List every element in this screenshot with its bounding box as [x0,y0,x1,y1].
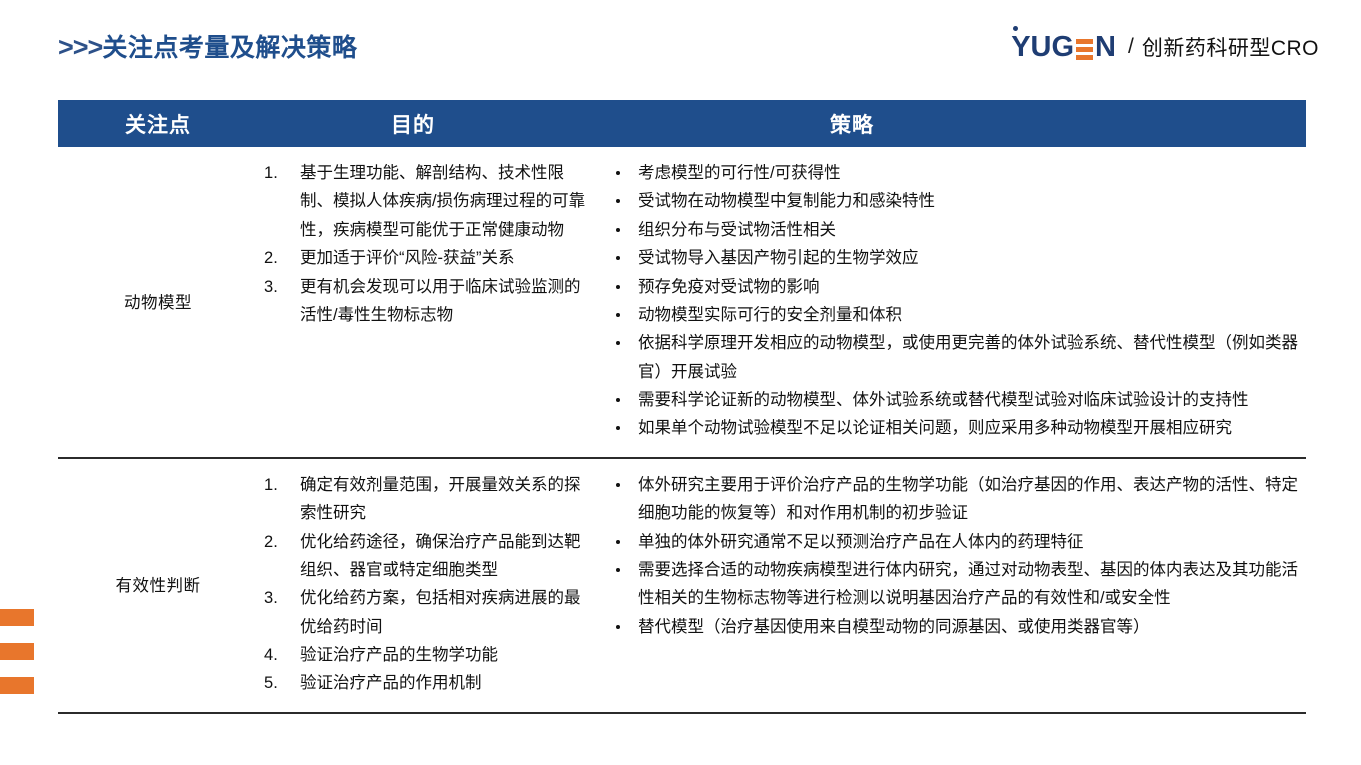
cell-purpose: 基于生理功能、解剖结构、技术性限制、模拟人体疾病/损伤病理过程的可靠性，疾病模型… [258,159,598,443]
brand-tagline: 创新药科研型CRO [1142,32,1319,62]
slide-root: >>> 关注点考量及解决策略 Y UG N / 创新药科研型CRO 关注点 目 [0,0,1361,765]
list-item: 需要科学论证新的动物模型、体外试验系统或替代模型试验对临床试验设计的支持性 [608,386,1306,414]
list-item: 体外研究主要用于评价治疗产品的生物学功能（如治疗基因的作用、表达产物的活性、特定… [608,471,1306,528]
focus-strategy-table: 关注点 目的 策略 动物模型 基于生理功能、解剖结构、技术性限制、模拟人体疾病/… [58,100,1306,714]
slide-header: >>> 关注点考量及解决策略 Y UG N / 创新药科研型CRO [0,34,1361,80]
logo-letter-y: Y [1011,33,1030,62]
list-item: 验证治疗产品的作用机制 [258,669,592,697]
table-header-row: 关注点 目的 策略 [58,100,1306,147]
cell-strategy: 体外研究主要用于评价治疗产品的生物学功能（如治疗基因的作用、表达产物的活性、特定… [598,471,1306,698]
cell-purpose: 确定有效剂量范围，开展量效关系的探索性研究 优化给药途径，确保治疗产品能到达靶组… [258,471,598,698]
yugen-logo: Y UG N [1011,33,1116,62]
brand-separator: / [1128,35,1134,59]
table-row: 有效性判断 确定有效剂量范围，开展量效关系的探索性研究 优化给药途径，确保治疗产… [58,459,1306,714]
list-item: 单独的体外研究通常不足以预测治疗产品在人体内的药理特征 [608,528,1306,556]
column-header-strategy: 策略 [568,109,1306,139]
cell-focus: 动物模型 [58,159,258,443]
list-item: 基于生理功能、解剖结构、技术性限制、模拟人体疾病/损伤病理过程的可靠性，疾病模型… [258,159,592,244]
purpose-list: 基于生理功能、解剖结构、技术性限制、模拟人体疾病/损伤病理过程的可靠性，疾病模型… [258,159,592,329]
page-title-group: >>> 关注点考量及解决策略 [58,34,357,61]
list-item: 确定有效剂量范围，开展量效关系的探索性研究 [258,471,592,528]
orange-marks-decoration [0,609,34,694]
strategy-list: 考虑模型的可行性/可获得性 受试物在动物模型中复制能力和感染特性 组织分布与受试… [608,159,1306,443]
list-item: 受试物在动物模型中复制能力和感染特性 [608,187,1306,215]
orange-mark-2 [0,643,34,660]
list-item: 动物模型实际可行的安全剂量和体积 [608,301,1306,329]
purpose-list: 确定有效剂量范围，开展量效关系的探索性研究 优化给药途径，确保治疗产品能到达靶组… [258,471,592,698]
orange-mark-1 [0,609,34,626]
list-item: 更加适于评价“风险-获益”关系 [258,244,592,272]
column-header-focus: 关注点 [58,109,258,139]
list-item: 验证治疗产品的生物学功能 [258,641,592,669]
list-item: 受试物导入基因产物引起的生物学效应 [608,244,1306,272]
list-item: 优化给药途径，确保治疗产品能到达靶组织、器官或特定细胞类型 [258,528,592,585]
table-row: 动物模型 基于生理功能、解剖结构、技术性限制、模拟人体疾病/损伤病理过程的可靠性… [58,147,1306,459]
logo-n-text: N [1095,33,1116,62]
cell-strategy: 考虑模型的可行性/可获得性 受试物在动物模型中复制能力和感染特性 组织分布与受试… [598,159,1306,443]
list-item: 更有机会发现可以用于临床试验监测的活性/毒性生物标志物 [258,273,592,330]
brand-lockup: Y UG N / 创新药科研型CRO [1011,32,1319,62]
list-item: 考虑模型的可行性/可获得性 [608,159,1306,187]
page-title: 关注点考量及解决策略 [102,36,357,61]
list-item: 预存免疫对受试物的影响 [608,273,1306,301]
list-item: 替代模型（治疗基因使用来自模型动物的同源基因、或使用类器官等） [608,613,1306,641]
strategy-list: 体外研究主要用于评价治疗产品的生物学功能（如治疗基因的作用、表达产物的活性、特定… [608,471,1306,641]
logo-dot-icon [1013,26,1018,31]
list-item: 优化给药方案，包括相对疾病进展的最优给药时间 [258,584,592,641]
orange-mark-3 [0,677,34,694]
logo-y-text: Y [1011,31,1030,63]
list-item: 组织分布与受试物活性相关 [608,216,1306,244]
chevron-right-triple-icon: >>> [58,34,102,61]
logo-ug-text: UG [1031,33,1075,62]
list-item: 需要选择合适的动物疾病模型进行体内研究，通过对动物表型、基因的体内表达及其功能活… [608,556,1306,613]
logo-letter-e-bars-icon [1076,39,1093,60]
list-item: 如果单个动物试验模型不足以论证相关问题，则应采用多种动物模型开展相应研究 [608,414,1306,442]
cell-focus: 有效性判断 [58,471,258,698]
column-header-purpose: 目的 [258,109,568,139]
list-item: 依据科学原理开发相应的动物模型，或使用更完善的体外试验系统、替代性模型（例如类器… [608,329,1306,386]
